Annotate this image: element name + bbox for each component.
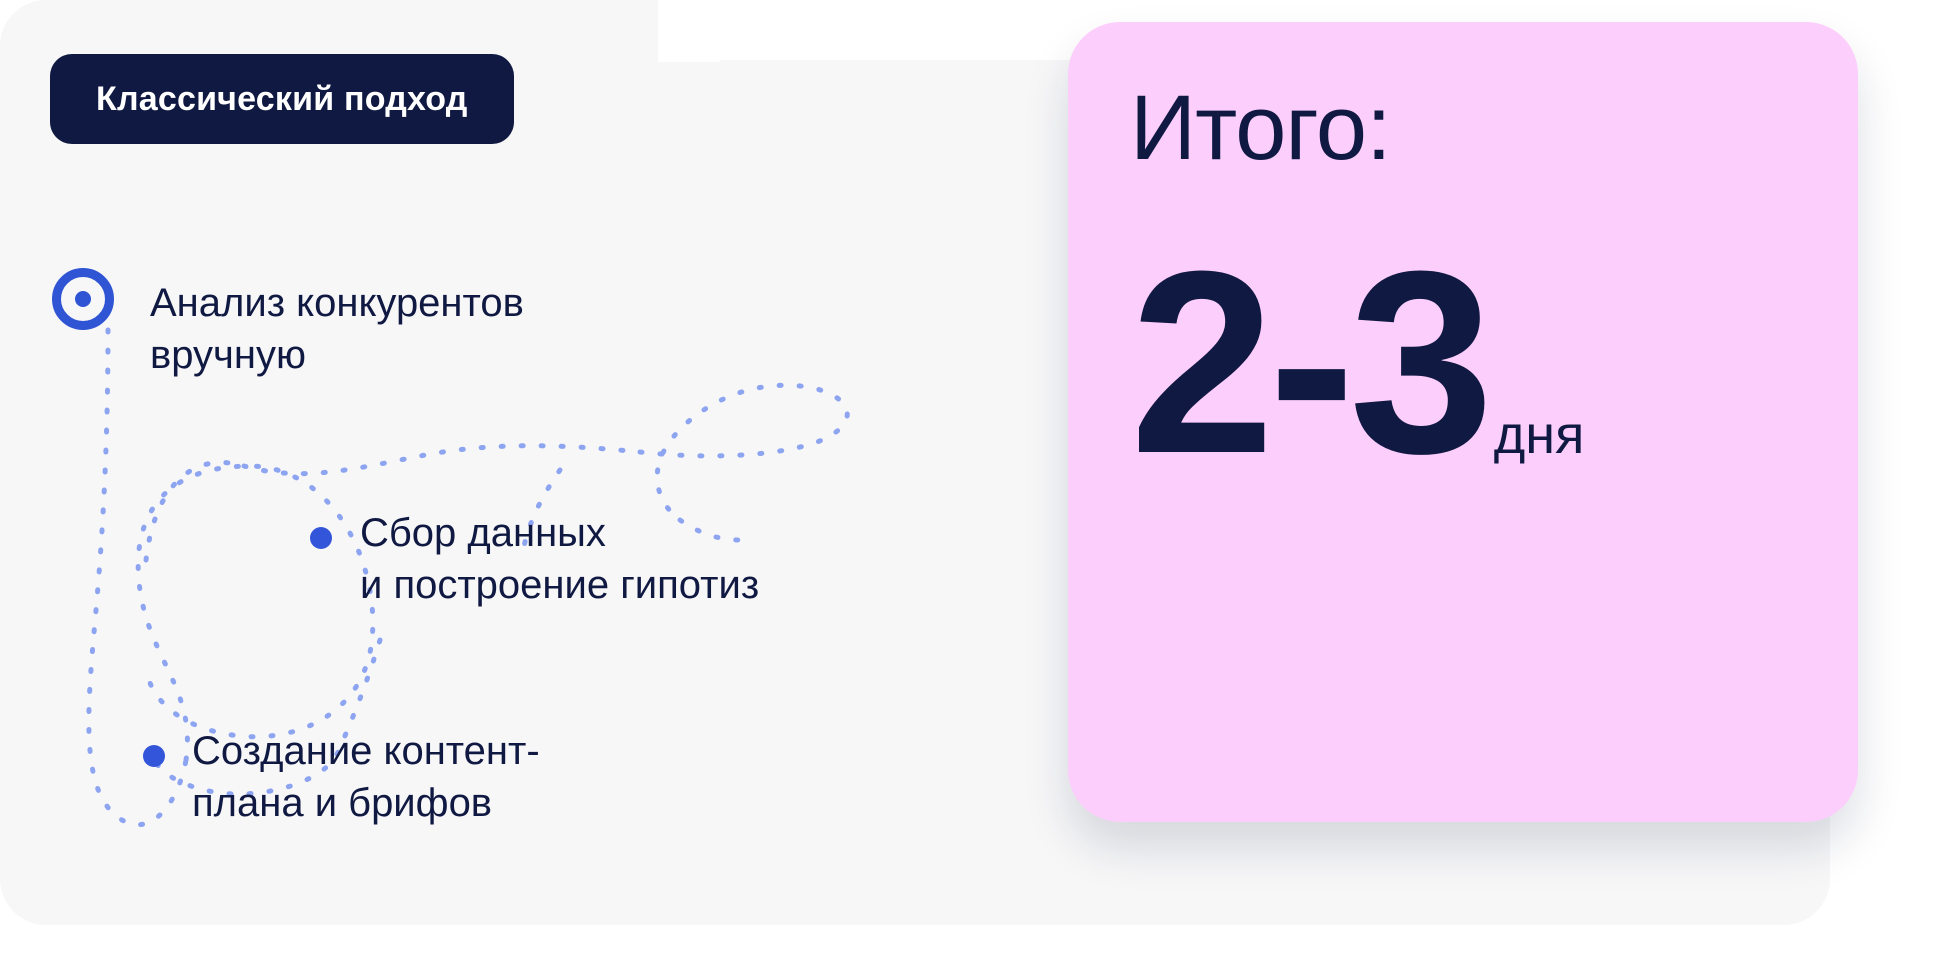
ring-marker-icon bbox=[52, 268, 114, 330]
step-item-2-label: Сбор данных и построение гипотиз bbox=[360, 507, 759, 611]
approach-badge-label: Классический подход bbox=[96, 80, 468, 119]
summary-card: Итого: 2-3 дня bbox=[1068, 22, 1858, 822]
approach-badge: Классический подход bbox=[50, 54, 514, 144]
step-item-1-label: Анализ конкурентов вручную bbox=[150, 277, 524, 381]
infographic-stage: Классический подход Анализ конкурентов в… bbox=[0, 0, 1950, 960]
summary-title: Итого: bbox=[1130, 82, 1858, 174]
step-item-3-label: Создание контент- плана и брифов bbox=[192, 725, 540, 829]
ring-marker-center-icon bbox=[75, 291, 91, 307]
dot-marker-icon-2 bbox=[310, 527, 332, 549]
summary-amount: 2-3 bbox=[1130, 252, 1488, 476]
summary-amount-row: 2-3 дня bbox=[1130, 252, 1584, 476]
dot-marker-icon-3 bbox=[143, 745, 165, 767]
summary-unit: дня bbox=[1494, 408, 1585, 476]
